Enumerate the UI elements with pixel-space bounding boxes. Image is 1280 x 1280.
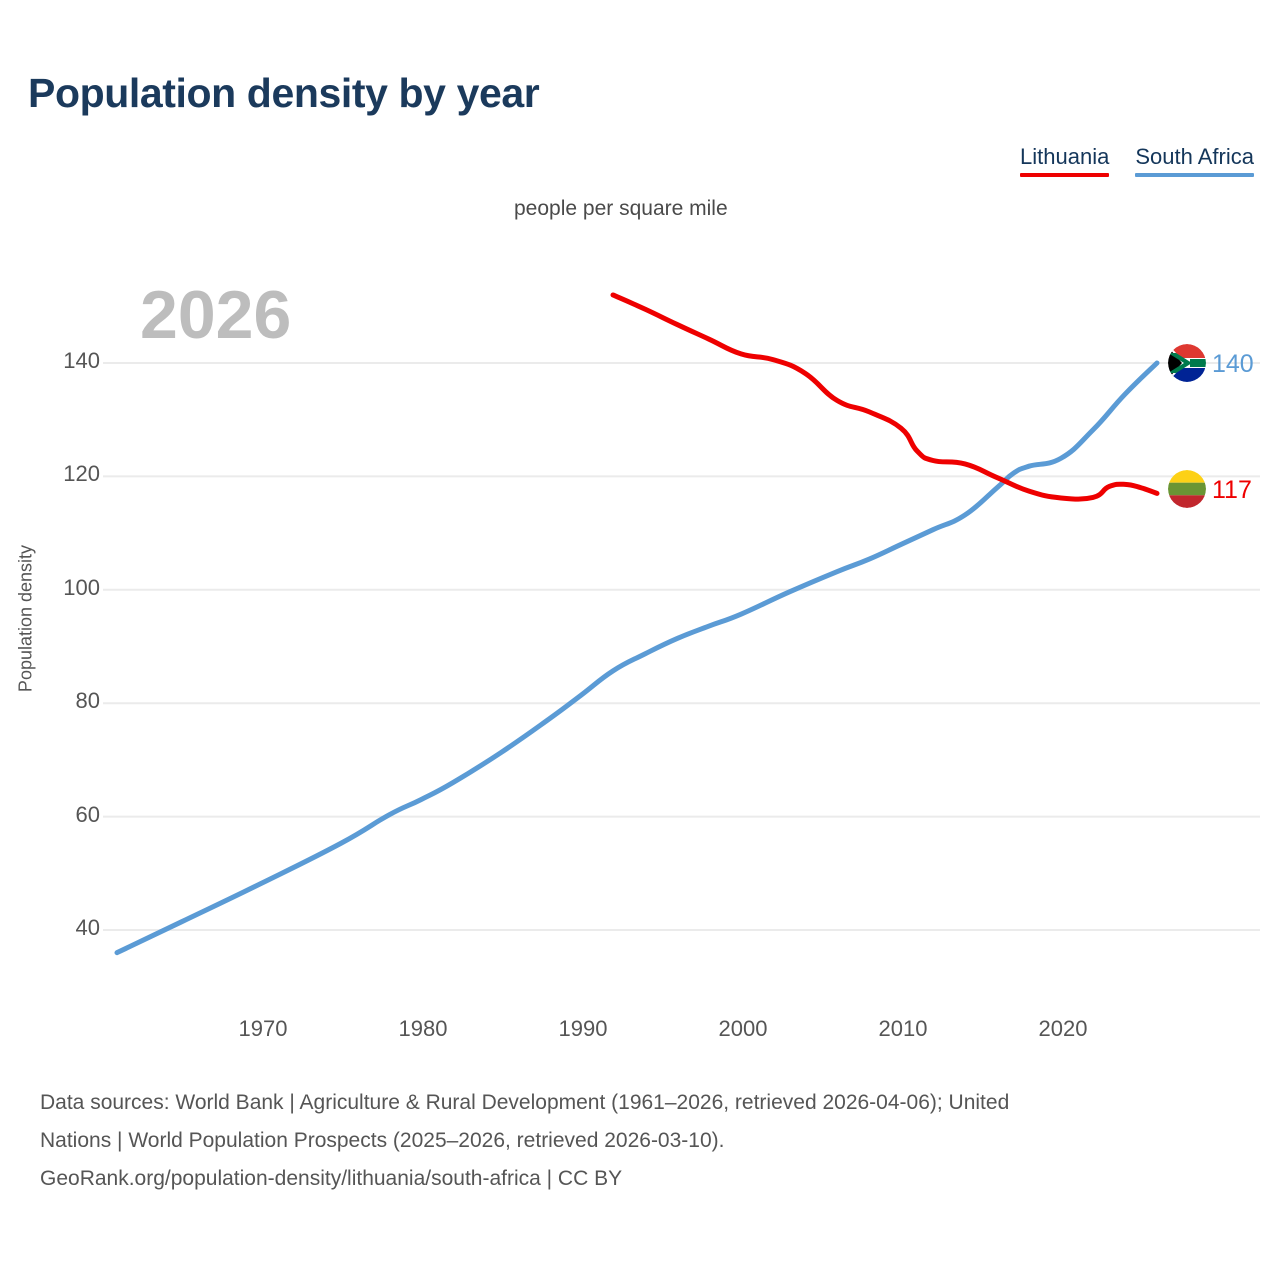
footer-line-1: Data sources: World Bank | Agriculture &…: [40, 1084, 1270, 1122]
footer-line-3: GeoRank.org/population-density/lithuania…: [40, 1160, 1270, 1198]
series-line-lithuania: [613, 295, 1157, 499]
chart-page: Population density by year Lithuania Sou…: [0, 0, 1280, 1280]
footer-line-2: Nations | World Population Prospects (20…: [40, 1122, 1270, 1160]
south-africa-flag-icon: [1168, 344, 1206, 382]
lithuania-flag-icon: [1168, 470, 1206, 508]
series-line-south-africa: [117, 363, 1157, 953]
end-label-lithuania: 117: [1212, 476, 1252, 505]
footer-sources: Data sources: World Bank | Agriculture &…: [40, 1084, 1270, 1198]
gridlines: [103, 363, 1260, 930]
end-label-south-africa: 140: [1212, 350, 1254, 379]
